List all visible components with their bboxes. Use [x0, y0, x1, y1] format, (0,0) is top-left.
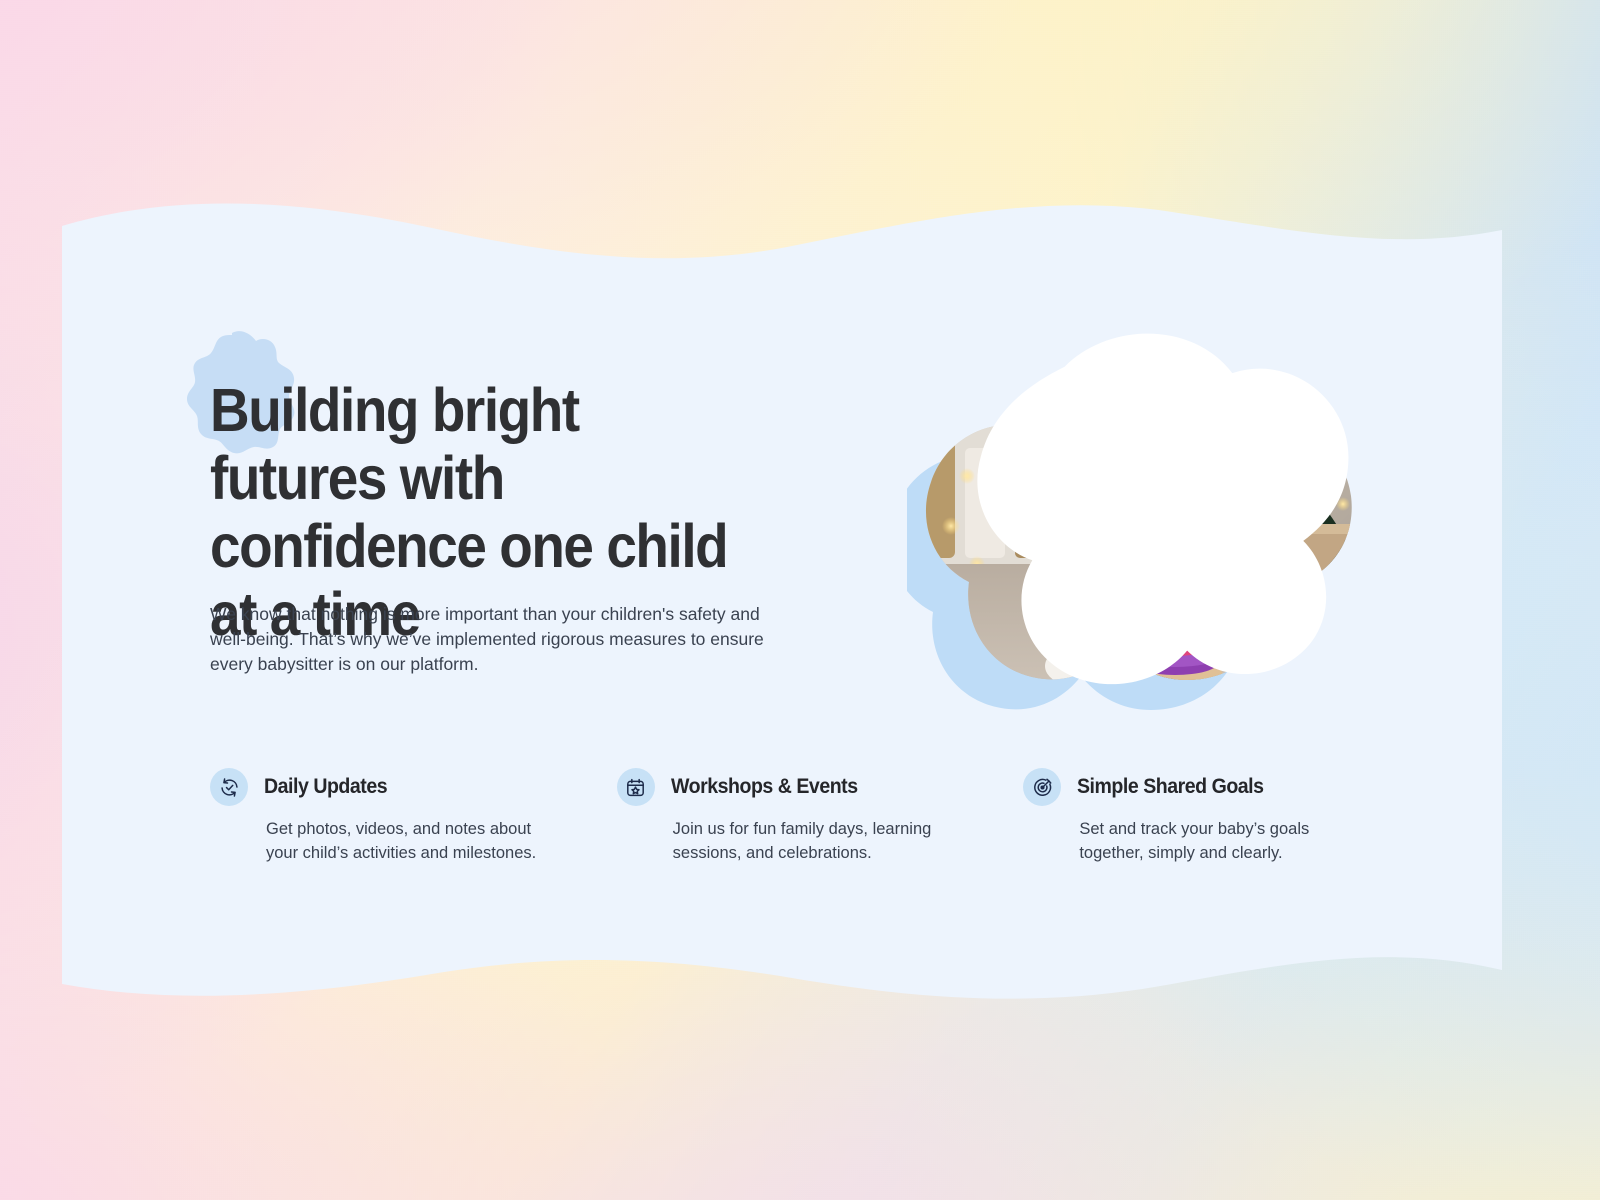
page-backdrop: Building bright futures with confidence …	[0, 0, 1600, 1200]
feature-description: Set and track your baby’s goals together…	[1079, 817, 1349, 865]
white-cloud-badge	[907, 328, 1377, 728]
target-arrow-icon	[1023, 768, 1061, 806]
sync-check-icon	[210, 768, 248, 806]
feature-item-workshops-events: Workshops & Events Join us for fun famil…	[617, 768, 1024, 865]
feature-header: Daily Updates	[210, 768, 617, 806]
feature-description: Get photos, videos, and notes about your…	[266, 817, 566, 865]
feature-title: Workshops & Events	[671, 775, 858, 799]
feature-header: Simple Shared Goals	[1023, 768, 1430, 806]
hero-card: Building bright futures with confidence …	[62, 196, 1502, 1008]
calendar-star-icon	[617, 768, 655, 806]
hero-image-group: 9 9	[907, 328, 1377, 728]
feature-title: Daily Updates	[264, 775, 387, 799]
feature-item-simple-shared-goals: Simple Shared Goals Set and track your b…	[1023, 768, 1430, 865]
feature-header: Workshops & Events	[617, 768, 1024, 806]
feature-item-daily-updates: Daily Updates Get photos, videos, and no…	[210, 768, 617, 865]
hero-paragraph: We know that nothing is more important t…	[210, 602, 770, 677]
feature-description: Join us for fun family days, learning se…	[673, 817, 963, 865]
feature-title: Simple Shared Goals	[1077, 775, 1264, 799]
feature-list: Daily Updates Get photos, videos, and no…	[210, 768, 1430, 865]
